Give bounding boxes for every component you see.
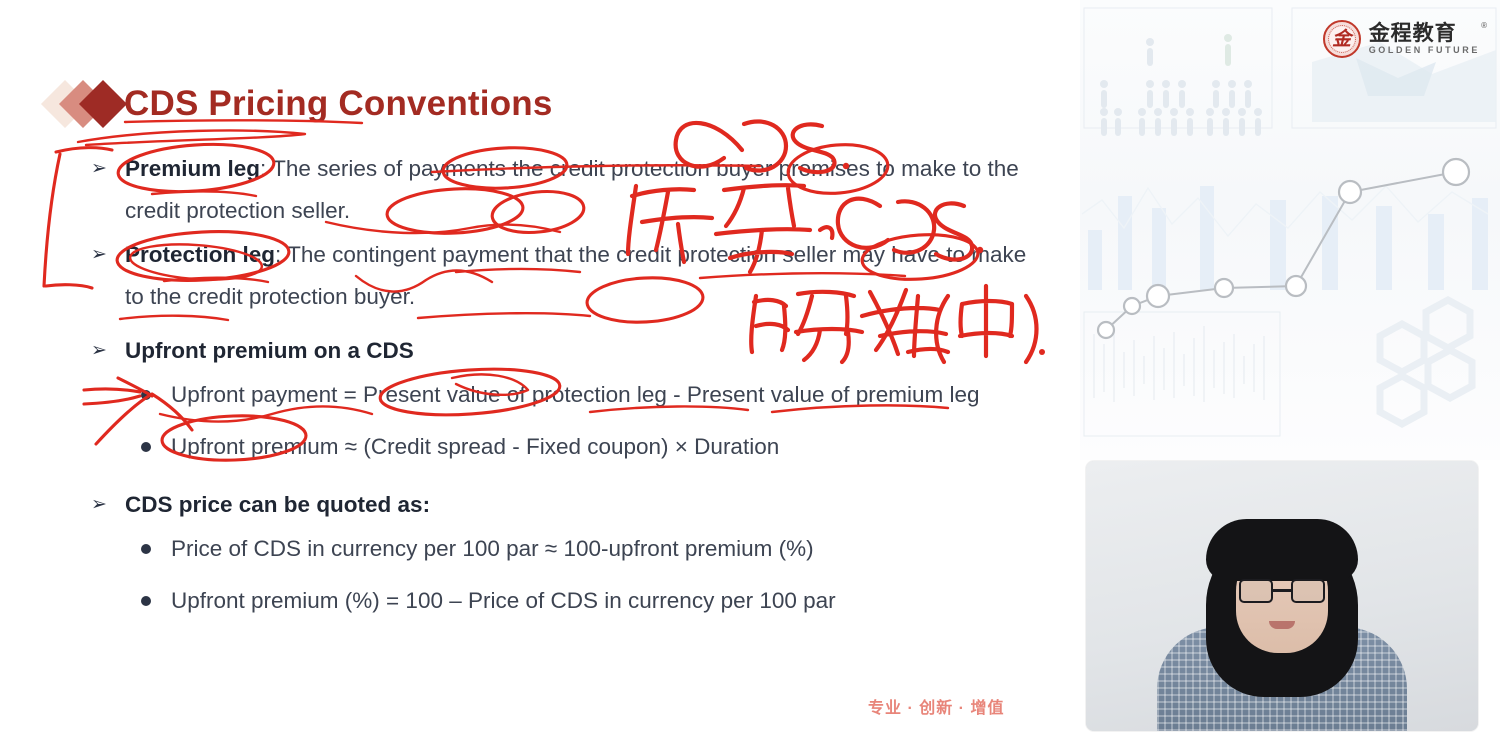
dot-bullet-icon — [141, 596, 151, 606]
bullet-cds-price-quoted-heading: ➢ CDS price can be quoted as: — [85, 484, 1045, 526]
seal-mark: 金 — [1332, 30, 1351, 49]
instructor-mouth — [1269, 621, 1295, 629]
golden-future-seal-icon: 金 — [1323, 20, 1361, 58]
bullet-text-upfront-payment: Upfront payment = Present value of prote… — [171, 382, 980, 407]
spacer — [85, 320, 1045, 330]
slide-screenshot: 金 金程教育® GOLDEN FUTURE CDS Pricing Conven… — [0, 0, 1500, 750]
decorative-background-graphics — [1080, 0, 1500, 460]
glasses-bridge — [1273, 589, 1291, 592]
slide-body: ➢ Premium leg: The series of payments th… — [85, 148, 1045, 622]
arrow-bullet-icon: ➢ — [91, 330, 107, 372]
page-title: CDS Pricing Conventions — [124, 84, 553, 124]
diamond-bullet-icon — [48, 78, 124, 130]
ink-title-swoosh — [78, 130, 305, 145]
bullet-upfront-premium-pct: Upfront premium (%) = 100 – Price of CDS… — [85, 580, 1045, 622]
glasses-lens-left — [1239, 579, 1273, 603]
bullet-price-of-cds: Price of CDS in currency per 100 par ≈ 1… — [85, 528, 1045, 570]
spacer — [85, 416, 1045, 426]
slide-title-row: CDS Pricing Conventions — [48, 78, 553, 130]
slide-canvas: CDS Pricing Conventions ➢ Premium leg: T… — [0, 0, 1080, 750]
brand-wordmark: 金程教育® GOLDEN FUTURE — [1369, 23, 1480, 55]
footer-slogan: 专业 · 创新 · 增值 — [868, 694, 1004, 718]
brand-name-en: GOLDEN FUTURE — [1369, 46, 1480, 55]
instructor-fringe — [1206, 519, 1358, 581]
bullet-lead-premium-leg: Premium leg — [125, 156, 260, 181]
bullet-text-upfront-premium: Upfront premium ≈ (Credit spread - Fixed… — [171, 434, 779, 459]
arrow-bullet-icon: ➢ — [91, 234, 107, 276]
dot-bullet-icon — [141, 544, 151, 554]
bullet-text-premium-leg: : The series of payments the credit prot… — [125, 156, 1019, 223]
arrow-bullet-icon: ➢ — [91, 148, 107, 190]
brand-logo: 金 金程教育® GOLDEN FUTURE — [1323, 20, 1480, 58]
instructor-figure — [1086, 521, 1478, 731]
bullet-upfront-payment-formula: Upfront payment = Present value of prote… — [85, 374, 1045, 416]
bullet-text-upfront-premium-pct: Upfront premium (%) = 100 – Price of CDS… — [171, 588, 836, 613]
dot-bullet-icon — [141, 442, 151, 452]
instructor-video-panel[interactable] — [1086, 461, 1478, 731]
spacer — [85, 468, 1045, 484]
bullet-premium-leg: ➢ Premium leg: The series of payments th… — [85, 148, 1045, 232]
bullet-upfront-premium-heading: ➢ Upfront premium on a CDS — [85, 330, 1045, 372]
dot-bullet-icon — [141, 390, 151, 400]
spacer — [85, 570, 1045, 580]
instructor-glasses — [1239, 579, 1325, 603]
arrow-bullet-icon: ➢ — [91, 484, 107, 526]
trademark-symbol: ® — [1481, 22, 1488, 30]
brand-name-cn: 金程教育® — [1369, 23, 1480, 44]
glasses-lens-right — [1291, 579, 1325, 603]
bullet-upfront-premium-formula: Upfront premium ≈ (Credit spread - Fixed… — [85, 426, 1045, 468]
bullet-lead-cds-price: CDS price can be quoted as: — [125, 492, 430, 517]
bullet-protection-leg: ➢ Protection leg: The contingent payment… — [85, 234, 1045, 318]
bullet-lead-protection-leg: Protection leg — [125, 242, 275, 267]
bullet-text-price-of-cds: Price of CDS in currency per 100 par ≈ 1… — [171, 536, 814, 561]
bullet-lead-upfront-premium: Upfront premium on a CDS — [125, 338, 414, 363]
